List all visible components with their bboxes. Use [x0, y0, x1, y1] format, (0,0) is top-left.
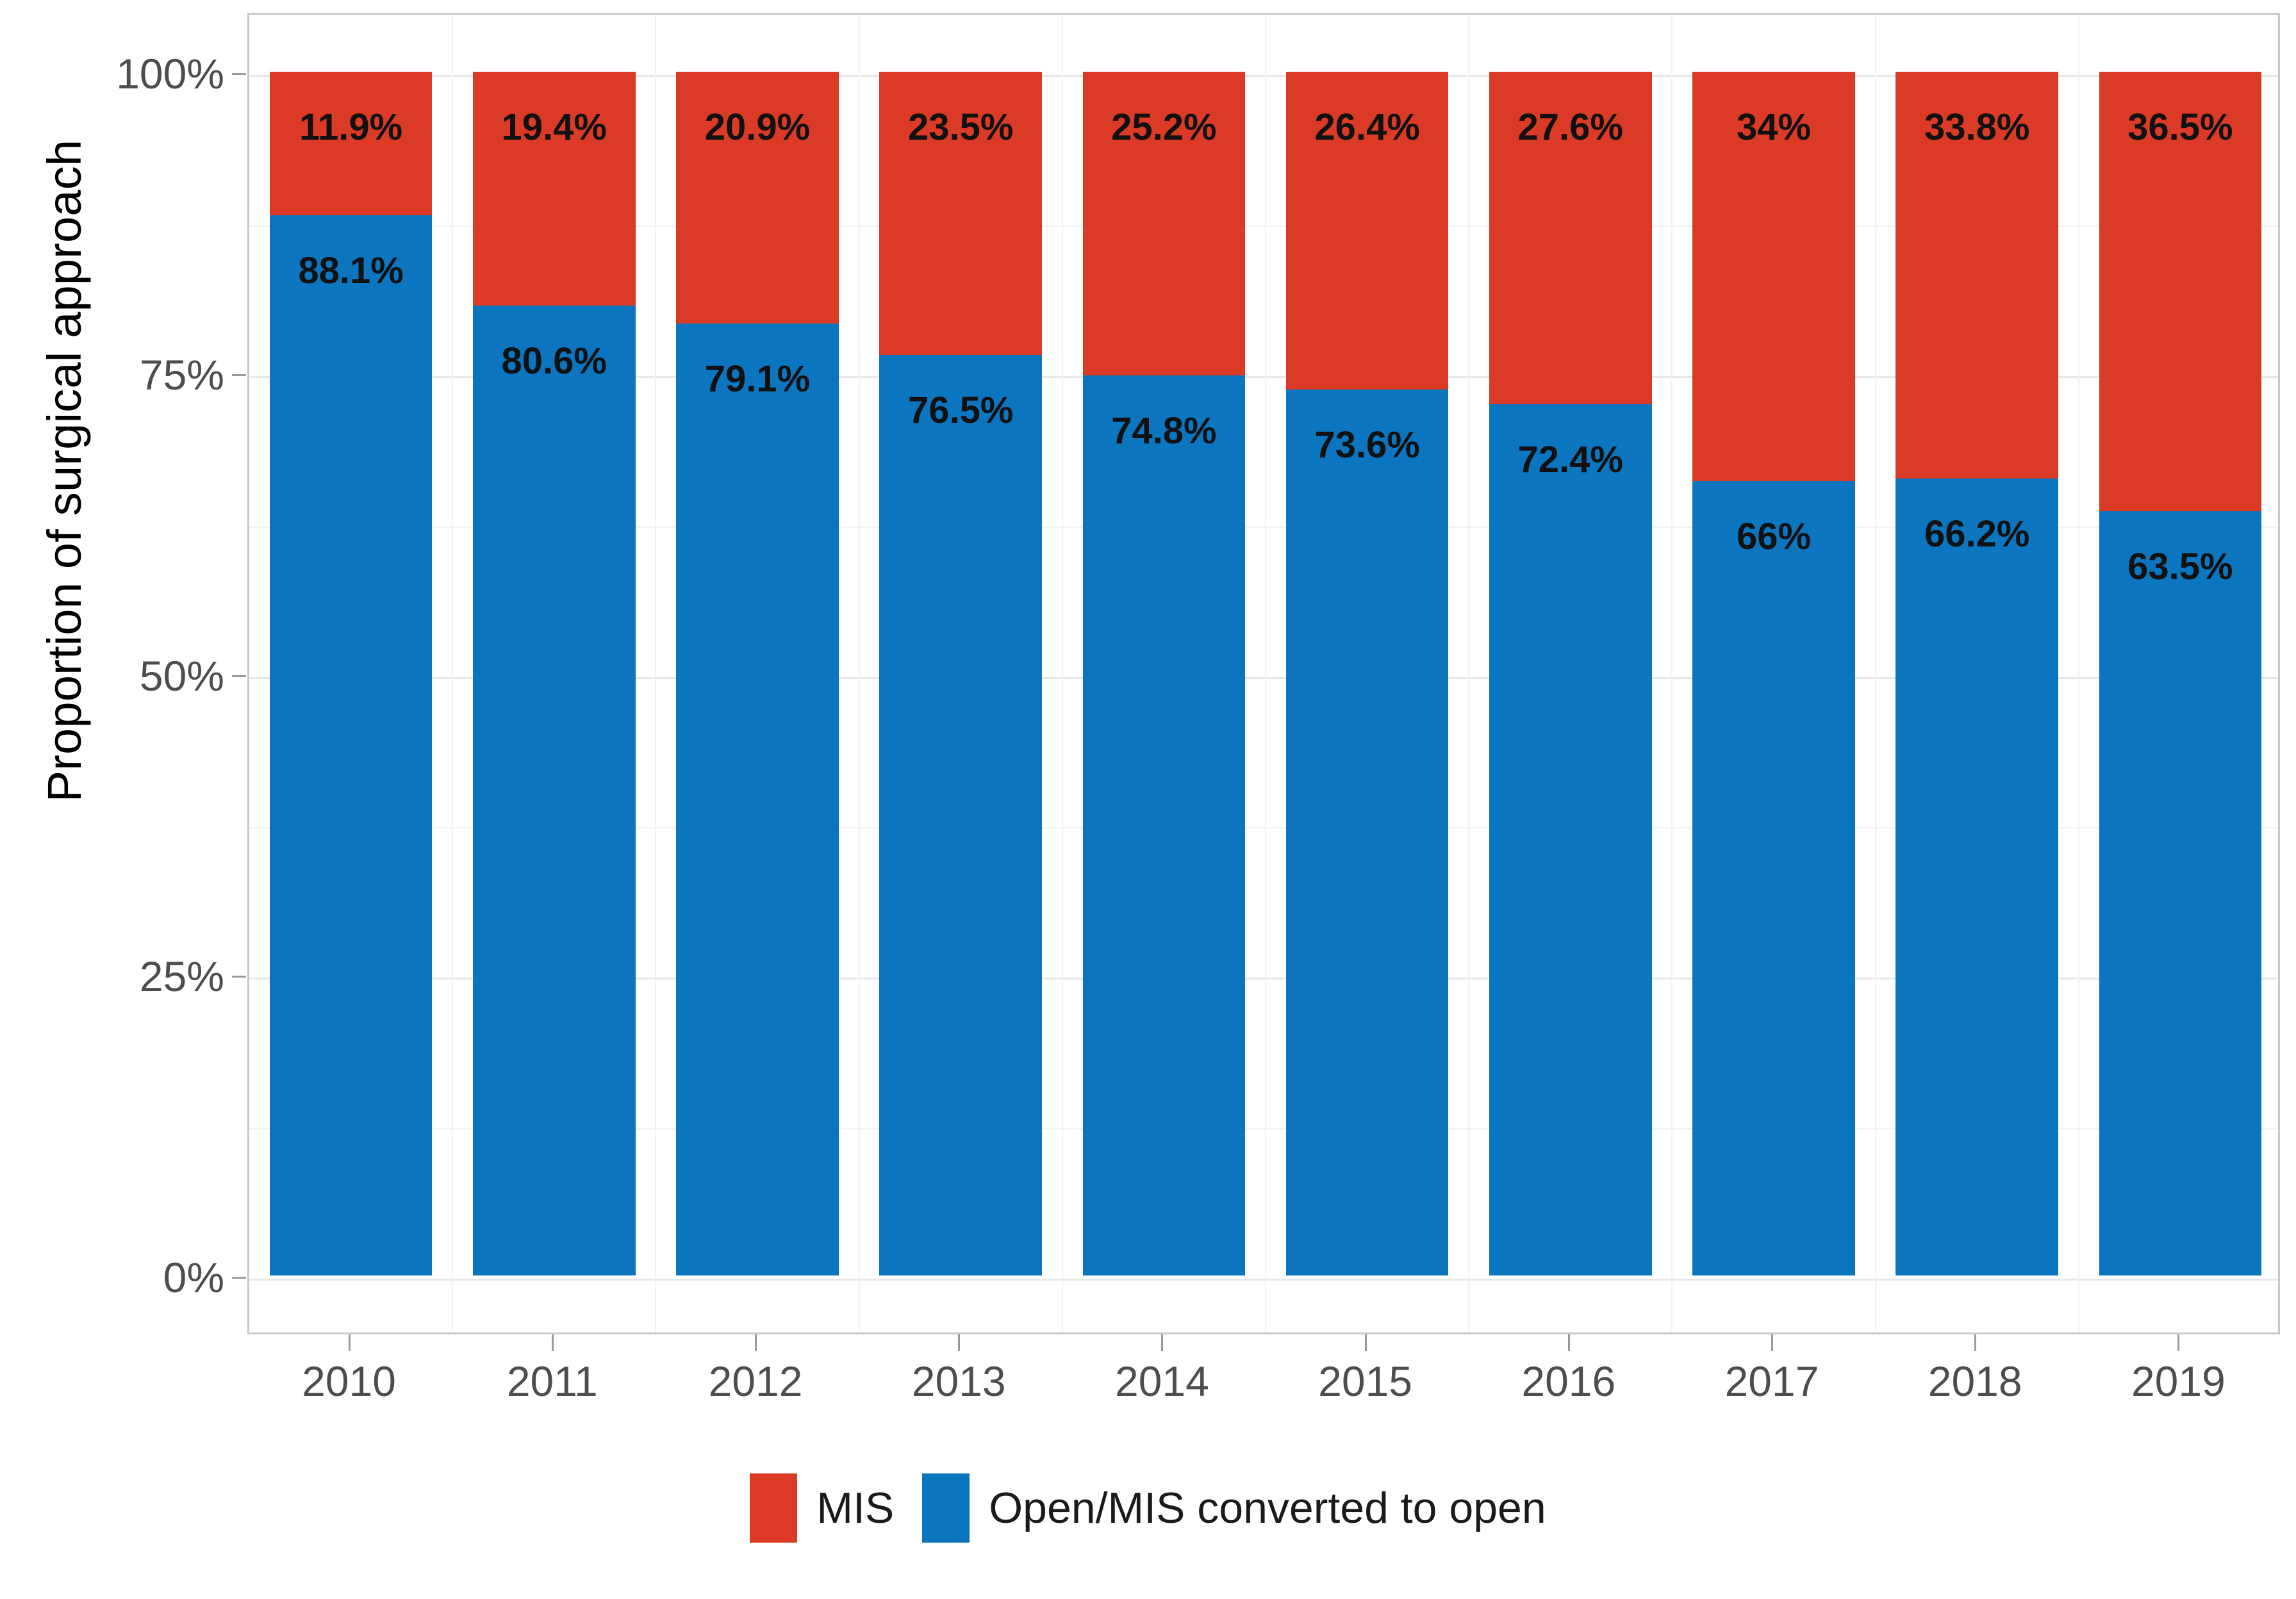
bar-segment-open-2019[interactable]: [2099, 511, 2262, 1275]
y-axis-ticks: 0%25%50%75%100%: [96, 0, 224, 1599]
bar-segment-open-2012[interactable]: [676, 324, 839, 1275]
bar-group-2012[interactable]: 20.9%79.1%: [676, 72, 839, 1275]
legend-swatch-icon: [750, 1473, 797, 1543]
bars-layer: 11.9%88.1%19.4%80.6%20.9%79.1%23.5%76.5%…: [249, 15, 2278, 1332]
y-tick-label-100: 100%: [96, 49, 224, 98]
y-tick-mark-50: [232, 675, 246, 677]
bar-segment-open-2018[interactable]: [1895, 479, 2058, 1275]
x-tick-mark-2019: [2177, 1334, 2179, 1351]
x-tick-mark-2014: [1161, 1334, 1163, 1351]
x-tick-mark-2012: [755, 1334, 757, 1351]
x-tick-mark-2018: [1974, 1334, 1976, 1351]
y-tick-mark-25: [232, 976, 246, 978]
x-tick-label-2010: 2010: [302, 1357, 396, 1406]
bar-group-2018[interactable]: 33.8%66.2%: [1895, 72, 2058, 1275]
bar-group-2015[interactable]: 26.4%73.6%: [1286, 72, 1449, 1275]
bar-group-2010[interactable]: 11.9%88.1%: [270, 72, 433, 1275]
bar-segment-mis-2015[interactable]: [1286, 72, 1449, 389]
y-tick-label-75: 75%: [96, 350, 224, 399]
bar-segment-mis-2012[interactable]: [676, 72, 839, 324]
legend-item-mis[interactable]: MIS: [750, 1473, 894, 1543]
chart-legend: MISOpen/MIS converted to open: [0, 1473, 2296, 1543]
bar-segment-mis-2010[interactable]: [270, 72, 433, 215]
bar-group-2017[interactable]: 34%66%: [1692, 72, 1855, 1275]
x-tick-label-2013: 2013: [912, 1357, 1006, 1406]
bar-segment-mis-2014[interactable]: [1083, 72, 1246, 375]
bar-segment-open-2016[interactable]: [1489, 404, 1652, 1275]
x-tick-label-2016: 2016: [1521, 1357, 1615, 1406]
bar-segment-open-2010[interactable]: [270, 215, 433, 1275]
x-tick-label-2015: 2015: [1318, 1357, 1412, 1406]
x-tick-label-2014: 2014: [1115, 1357, 1209, 1406]
x-tick-label-2011: 2011: [507, 1357, 598, 1406]
x-tick-label-2019: 2019: [2131, 1357, 2226, 1406]
x-tick-mark-2017: [1771, 1334, 1773, 1351]
x-tick-mark-2010: [349, 1334, 351, 1351]
bar-segment-open-2013[interactable]: [879, 355, 1042, 1275]
legend-label: Open/MIS converted to open: [989, 1483, 1546, 1533]
y-tick-label-25: 25%: [96, 952, 224, 1001]
x-tick-mark-2011: [552, 1334, 554, 1351]
x-tick-label-2018: 2018: [1928, 1357, 2022, 1406]
y-tick-mark-0: [232, 1277, 246, 1279]
bar-group-2019[interactable]: 36.5%63.5%: [2099, 72, 2262, 1275]
y-tick-label-0: 0%: [96, 1253, 224, 1302]
bar-segment-open-2017[interactable]: [1692, 481, 1855, 1275]
x-tick-label-2017: 2017: [1725, 1357, 1819, 1406]
bar-segment-open-2011[interactable]: [473, 306, 636, 1275]
plot-panel: 11.9%88.1%19.4%80.6%20.9%79.1%23.5%76.5%…: [247, 13, 2280, 1334]
bar-segment-mis-2013[interactable]: [879, 72, 1042, 355]
bar-segment-mis-2018[interactable]: [1895, 72, 2058, 479]
legend-item-open[interactable]: Open/MIS converted to open: [922, 1473, 1546, 1543]
y-tick-label-50: 50%: [96, 652, 224, 700]
legend-label: MIS: [816, 1483, 894, 1533]
bar-segment-mis-2017[interactable]: [1692, 72, 1855, 481]
bar-segment-mis-2016[interactable]: [1489, 72, 1652, 404]
legend-swatch-icon: [922, 1473, 970, 1543]
x-tick-label-2012: 2012: [709, 1357, 803, 1406]
bar-group-2016[interactable]: 27.6%72.4%: [1489, 72, 1652, 1275]
bar-segment-open-2014[interactable]: [1083, 375, 1246, 1275]
y-tick-mark-75: [232, 374, 246, 376]
bar-segment-mis-2019[interactable]: [2099, 72, 2262, 511]
x-tick-mark-2013: [958, 1334, 960, 1351]
y-axis-title: Proportion of surgical approach: [26, 0, 103, 1153]
y-tick-mark-100: [232, 73, 246, 75]
bar-group-2014[interactable]: 25.2%74.8%: [1083, 72, 1246, 1275]
x-tick-mark-2015: [1365, 1334, 1367, 1351]
bar-group-2013[interactable]: 23.5%76.5%: [879, 72, 1042, 1275]
x-tick-mark-2016: [1568, 1334, 1570, 1351]
bar-group-2011[interactable]: 19.4%80.6%: [473, 72, 636, 1275]
chart-figure: Proportion of surgical approach 0%25%50%…: [0, 0, 2296, 1599]
bar-segment-mis-2011[interactable]: [473, 72, 636, 306]
bar-segment-open-2015[interactable]: [1286, 389, 1449, 1275]
